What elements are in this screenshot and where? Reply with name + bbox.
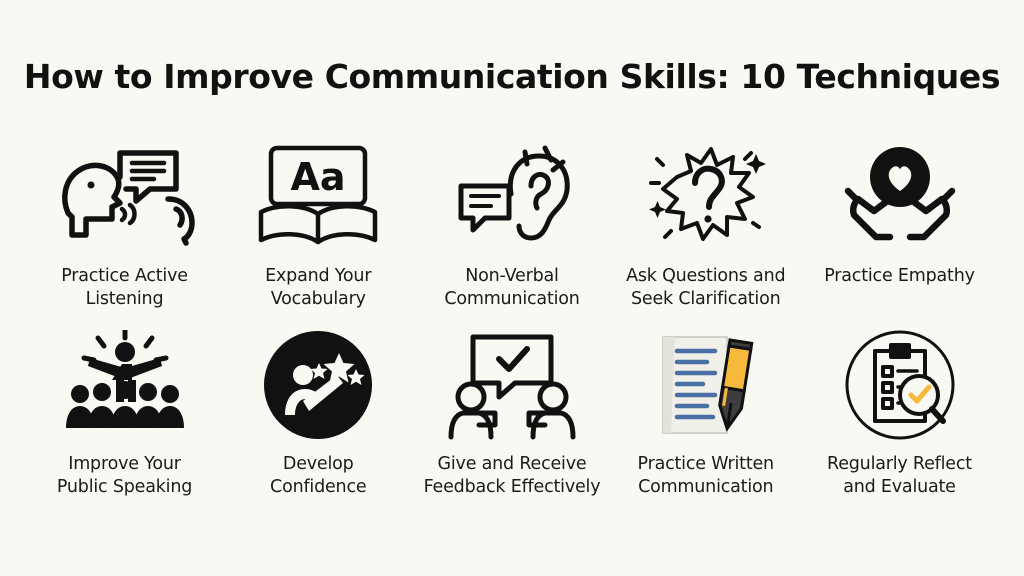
head-speech-bubble-ear-icon (50, 138, 200, 256)
technique-item-1: Practice Active Listening (28, 138, 221, 312)
clipboard-magnifier-icon (841, 326, 959, 444)
document-pen-icon (641, 326, 771, 444)
technique-label-8: Give and Receive Feedback Effectively (424, 453, 601, 500)
technique-label-7: Develop Confidence (270, 453, 366, 500)
technique-item-3: Non-Verbal Communication (416, 138, 609, 312)
confidence-stars-circle-icon (259, 326, 377, 444)
technique-label-4: Ask Questions and Seek Clarification (626, 265, 785, 312)
poster-canvas: How to Improve Communication Skills: 10 … (0, 0, 1024, 576)
technique-item-7: Develop Confidence (222, 326, 415, 500)
page-title: How to Improve Communication Skills: 10 … (0, 57, 1024, 96)
technique-label-5: Practice Empathy (824, 265, 975, 288)
technique-item-2: Aa Expand Your Vocabulary (222, 138, 415, 312)
hands-heart-icon (830, 138, 970, 256)
two-people-feedback-icon (437, 326, 587, 444)
svg-text:Aa: Aa (291, 155, 346, 199)
techniques-row-2: Improve Your Public Speaking (28, 326, 996, 500)
techniques-row-1: Practice Active Listening Aa Expand Your… (28, 138, 996, 312)
technique-label-9: Practice Written Communication (638, 453, 774, 500)
technique-label-2: Expand Your Vocabulary (265, 265, 371, 312)
technique-item-4: Ask Questions and Seek Clarification (609, 138, 802, 312)
ear-speech-bubble-icon (447, 138, 577, 256)
technique-item-6: Improve Your Public Speaking (28, 326, 221, 500)
technique-label-10: Regularly Reflect and Evaluate (827, 453, 972, 500)
technique-item-8: Give and Receive Feedback Effectively (416, 326, 609, 500)
technique-label-1: Practice Active Listening (61, 265, 188, 312)
question-mark-burst-icon (641, 138, 771, 256)
technique-label-6: Improve Your Public Speaking (57, 453, 192, 500)
public-speaking-crowd-icon (50, 326, 200, 444)
technique-item-10: Regularly Reflect and Evaluate (803, 326, 996, 500)
techniques-grid: Practice Active Listening Aa Expand Your… (28, 138, 996, 499)
technique-item-9: Practice Written Communication (609, 326, 802, 500)
open-book-letters-icon: Aa (253, 138, 383, 256)
technique-item-5: Practice Empathy (803, 138, 996, 312)
technique-label-3: Non-Verbal Communication (444, 265, 579, 312)
